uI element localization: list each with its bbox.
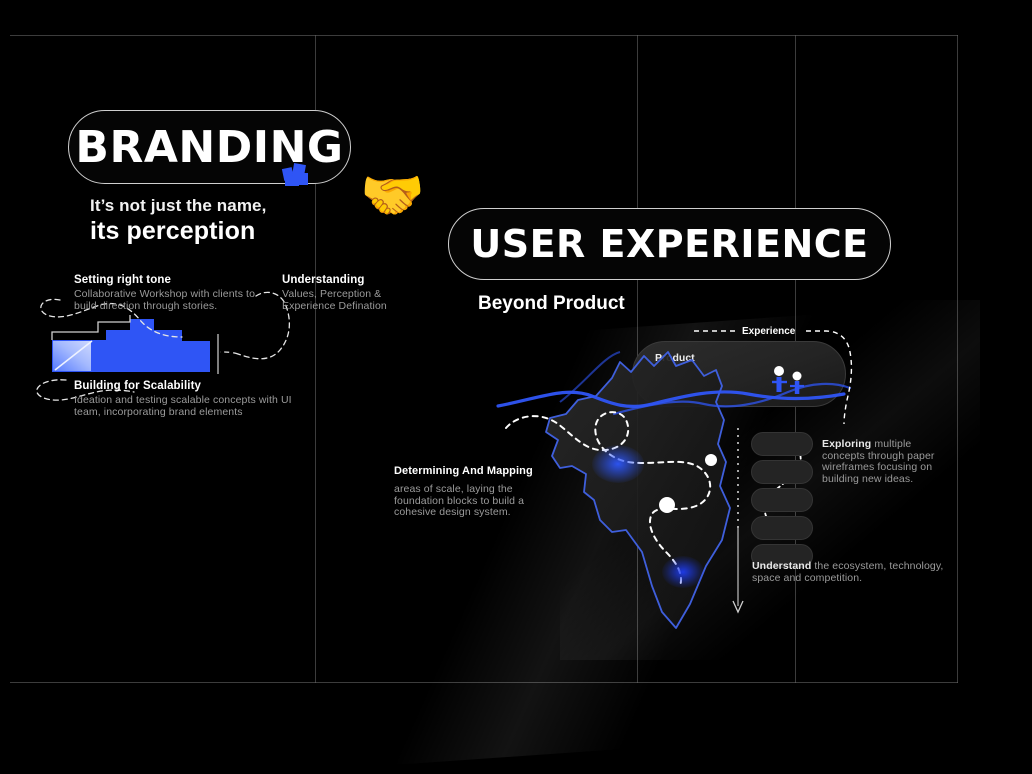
wireframe-card[interactable] [751,488,813,512]
wireframe-card-stack[interactable] [751,432,813,572]
note-exploring: Exploring multiple concepts through pape… [822,439,947,485]
experience-map-graphic [0,0,1032,716]
waypoint-dot [705,454,717,466]
people-icon-group [772,366,804,394]
slide-canvas: BRANDING It’s not just the name, its per… [0,0,1032,716]
wireframe-card[interactable] [751,460,813,484]
wireframe-card[interactable] [751,432,813,456]
note-body: areas of scale, laying the foundation bl… [394,484,554,519]
note-determining-and-mapping: Determining And Mapping areas of scale, … [394,465,554,519]
wireframe-card[interactable] [751,516,813,540]
note-heading: Exploring [822,438,871,450]
note-body: Exploring multiple concepts through pape… [822,439,947,485]
note-body: Understand the ecosystem, technology, sp… [752,561,952,584]
waypoint-dot [659,497,675,513]
note-understand: Understand the ecosystem, technology, sp… [752,561,952,584]
note-heading: Understand [752,560,811,572]
note-heading: Determining And Mapping [394,465,554,477]
